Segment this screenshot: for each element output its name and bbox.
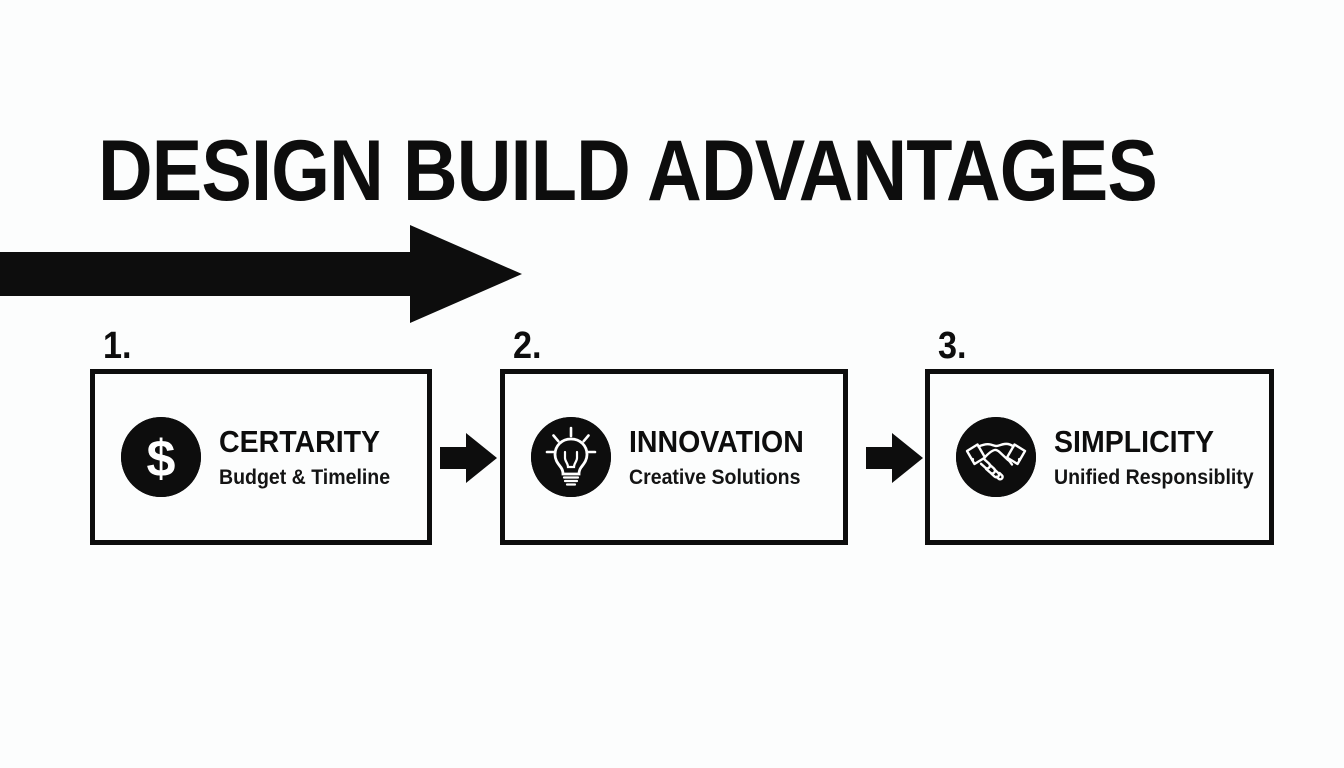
step-card-2[interactable]: 2. INNOVATION bbox=[500, 369, 848, 545]
step-text-2: INNOVATION Creative Solutions bbox=[629, 425, 819, 489]
handshake-circle-icon bbox=[956, 417, 1036, 497]
svg-text:$: $ bbox=[147, 430, 176, 488]
step-subtitle-3: Unified Responsiblity bbox=[1054, 467, 1254, 489]
step-subtitle-1: Budget & Timeline bbox=[219, 467, 390, 489]
step-title-2: INNOVATION bbox=[629, 425, 804, 458]
step-number-2: 2. bbox=[513, 327, 542, 365]
slide-canvas: DESIGN BUILD ADVANTAGES 1. $ CERTARITY B… bbox=[0, 0, 1344, 768]
long-right-arrow-icon bbox=[0, 225, 522, 323]
step-title-3: SIMPLICITY bbox=[1054, 425, 1252, 458]
right-arrow-icon bbox=[440, 432, 498, 484]
step-title-1: CERTARITY bbox=[219, 425, 388, 458]
step-text-1: CERTARITY Budget & Timeline bbox=[219, 425, 403, 489]
right-arrow-icon bbox=[866, 432, 924, 484]
step-card-3[interactable]: 3. SIMPLICITY U bbox=[925, 369, 1274, 545]
page-title: DESIGN BUILD ADVANTAGES bbox=[98, 128, 1157, 214]
step-subtitle-2: Creative Solutions bbox=[629, 467, 806, 489]
lightbulb-circle-icon bbox=[531, 417, 611, 497]
step-text-3: SIMPLICITY Unified Responsiblity bbox=[1054, 425, 1269, 489]
step-card-1[interactable]: 1. $ CERTARITY Budget & Timeline bbox=[90, 369, 432, 545]
dollar-circle-icon: $ bbox=[121, 417, 201, 497]
step-number-3: 3. bbox=[938, 327, 967, 365]
step-number-1: 1. bbox=[103, 327, 132, 365]
